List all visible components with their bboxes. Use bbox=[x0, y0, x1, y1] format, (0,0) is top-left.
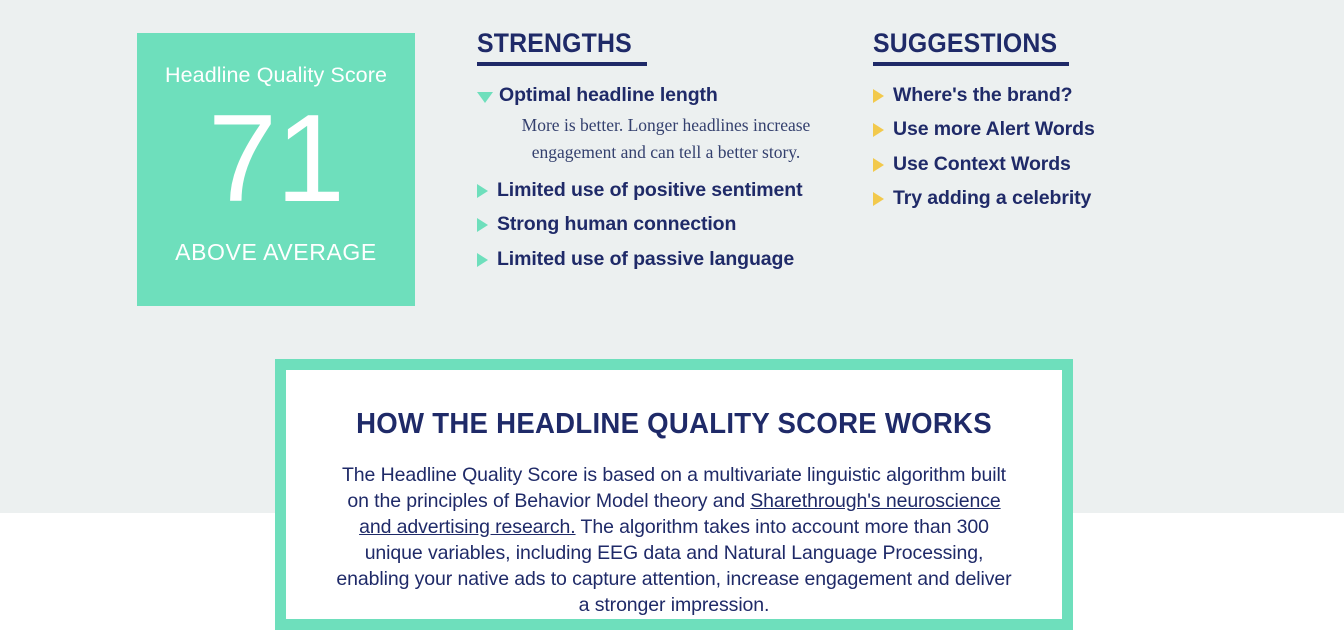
suggestion-item-title: Use Context Words bbox=[893, 153, 1071, 175]
suggestions-column: SUGGESTIONS Where's the brand? Use more … bbox=[873, 30, 1173, 222]
strength-item-title: Limited use of positive sentiment bbox=[497, 179, 803, 201]
triangle-right-icon[interactable] bbox=[477, 218, 488, 232]
strength-item-1[interactable]: Limited use of positive sentiment bbox=[477, 179, 847, 201]
how-it-works-body: The Headline Quality Score is based on a… bbox=[332, 463, 1016, 619]
strengths-column: STRENGTHS Optimal headline length More i… bbox=[477, 30, 847, 282]
suggestion-item-1[interactable]: Use more Alert Words bbox=[873, 118, 1173, 140]
suggestions-heading-rule bbox=[873, 62, 1069, 66]
triangle-right-icon[interactable] bbox=[873, 158, 884, 172]
strengths-heading: STRENGTHS bbox=[477, 30, 817, 57]
how-it-works-title: HOW THE HEADLINE QUALITY SCORE WORKS bbox=[349, 409, 999, 441]
suggestion-item-2[interactable]: Use Context Words bbox=[873, 153, 1173, 175]
suggestion-item-3[interactable]: Try adding a celebrity bbox=[873, 187, 1173, 209]
suggestions-heading: SUGGESTIONS bbox=[873, 30, 1149, 57]
score-card-rating: ABOVE AVERAGE bbox=[137, 239, 415, 266]
strength-item-title: Optimal headline length bbox=[499, 84, 718, 106]
triangle-right-icon[interactable] bbox=[873, 123, 884, 137]
triangle-right-icon[interactable] bbox=[873, 192, 884, 206]
suggestion-item-0[interactable]: Where's the brand? bbox=[873, 84, 1173, 106]
strength-item-3[interactable]: Limited use of passive language bbox=[477, 248, 847, 270]
suggestion-item-title: Try adding a celebrity bbox=[893, 187, 1091, 209]
strength-item-title: Strong human connection bbox=[497, 213, 736, 235]
strength-item-0[interactable]: Optimal headline length bbox=[477, 84, 847, 106]
strength-item-2[interactable]: Strong human connection bbox=[477, 213, 847, 235]
how-it-works-card: HOW THE HEADLINE QUALITY SCORE WORKS The… bbox=[275, 359, 1073, 630]
strength-item-description: More is better. Longer headlines increas… bbox=[501, 112, 831, 165]
triangle-right-icon[interactable] bbox=[477, 253, 488, 267]
score-card: Headline Quality Score 71 ABOVE AVERAGE bbox=[137, 33, 415, 306]
strengths-heading-rule bbox=[477, 62, 647, 66]
triangle-right-icon[interactable] bbox=[873, 89, 884, 103]
triangle-right-icon[interactable] bbox=[477, 184, 488, 198]
headline-quality-report: Headline Quality Score 71 ABOVE AVERAGE … bbox=[0, 0, 1344, 644]
strength-item-title: Limited use of passive language bbox=[497, 248, 794, 270]
suggestion-item-title: Where's the brand? bbox=[893, 84, 1072, 106]
suggestion-item-title: Use more Alert Words bbox=[893, 118, 1095, 140]
score-card-value: 71 bbox=[137, 97, 415, 221]
triangle-down-icon[interactable] bbox=[477, 92, 493, 103]
score-card-label: Headline Quality Score bbox=[137, 63, 415, 89]
how-it-works-card-inner: HOW THE HEADLINE QUALITY SCORE WORKS The… bbox=[286, 370, 1062, 619]
